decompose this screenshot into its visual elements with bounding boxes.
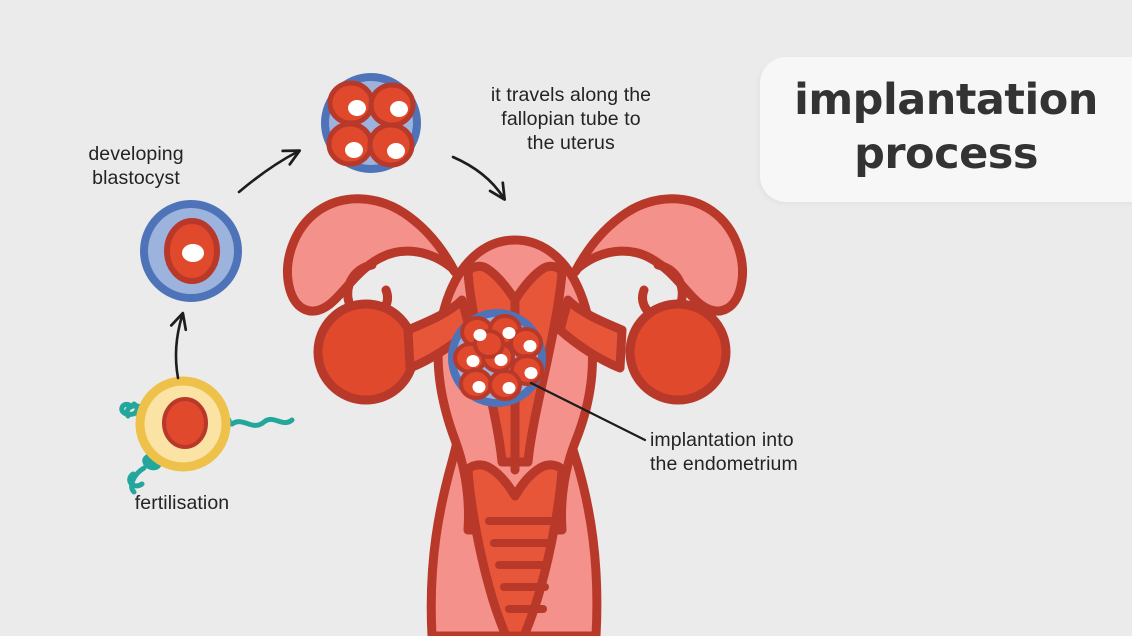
infographic-canvas: developing blastocyst it travels along t… <box>0 0 1132 636</box>
stage-four-cell <box>325 77 417 169</box>
sperm-tail-right <box>232 419 292 425</box>
left-ovary-shape <box>318 304 414 400</box>
page-title: implantation process <box>760 73 1132 181</box>
blastomere-nucleus-4 <box>387 143 405 159</box>
morula-nucleus-2 <box>503 327 516 339</box>
blastomere-nucleus-1 <box>348 100 366 116</box>
blastomere-nucleus-2 <box>390 101 408 117</box>
right-ovary-shape <box>630 304 726 400</box>
morula-nucleus-4 <box>467 355 480 367</box>
stage-zygote-cell <box>144 204 238 298</box>
label-implantation-endometrium: implantation into the endometrium <box>650 428 910 476</box>
stage-fertilisation-cell <box>122 381 292 492</box>
arrow-fertilisation-to-zygote <box>176 316 182 378</box>
arrow-four-cell-to-uterus <box>453 157 503 197</box>
morula-nucleus-3 <box>524 340 537 352</box>
label-developing-blastocyst: developing blastocyst <box>52 142 220 190</box>
right-fallopian-tube-shape <box>575 199 742 311</box>
blastomere-nucleus-3 <box>345 142 363 158</box>
reproductive-system-anatomy <box>288 199 743 636</box>
zygote-nucleus-shape <box>182 244 204 262</box>
morula-nucleus-6 <box>525 367 538 379</box>
stage-implanting-blastocyst <box>452 313 542 403</box>
label-travels-fallopian-tube: it travels along the fallopian tube to t… <box>465 83 677 155</box>
title-card: implantation process <box>760 57 1132 202</box>
morula-nucleus-5 <box>495 354 508 366</box>
label-fertilisation: fertilisation <box>92 491 272 515</box>
arrow-zygote-to-four-cell <box>239 152 297 192</box>
morula-nucleus-8 <box>503 382 516 394</box>
left-fallopian-tube-shape <box>288 199 455 311</box>
morula-nucleus-1 <box>474 329 487 341</box>
morula-nucleus-7 <box>473 381 486 393</box>
ovum-nucleus-shape <box>164 399 206 447</box>
